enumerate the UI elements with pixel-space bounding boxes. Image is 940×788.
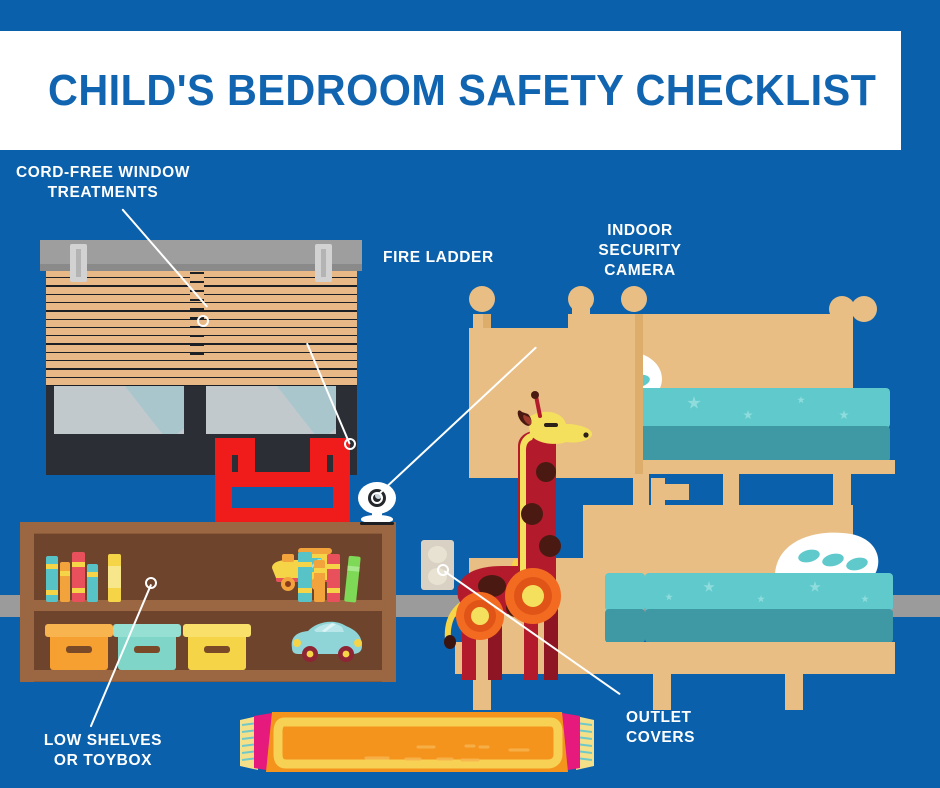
fire-escape-ladder: [215, 438, 350, 530]
book: [298, 552, 312, 602]
storage-bin-mint: [118, 624, 176, 670]
blind-slat-stack-line: [190, 272, 204, 275]
blind-slat: [46, 378, 357, 385]
giraffe-head: [528, 412, 592, 444]
leader-dot-cord-free: [197, 315, 209, 327]
giraffe-spot: [539, 535, 561, 557]
leader-dot-outlet: [437, 564, 449, 576]
giraffe-eye: [544, 423, 558, 427]
bookshelf-bottom-board: [33, 670, 383, 681]
book: [46, 556, 58, 602]
book: [72, 552, 85, 602]
car-headlight: [293, 639, 301, 647]
blind-valance-shadow: [40, 264, 362, 271]
blind-slat-stack-line: [190, 308, 204, 311]
low-bookshelf-with-toybox: [20, 522, 396, 682]
callout-label-outlet-covers: OUTLET COVERS: [626, 708, 756, 748]
giraffe-horn: [536, 396, 540, 416]
bed-finial: [469, 286, 495, 312]
bookshelf-side-right: [382, 522, 396, 682]
pillow-lower: [771, 532, 883, 576]
train-chimney: [282, 554, 294, 562]
blind-slat: [46, 370, 357, 377]
car-taillight: [354, 639, 362, 647]
callout-label-low-shelves-or-toybox: LOW SHELVES OR TOYBOX: [20, 731, 186, 771]
toy-train: [270, 546, 355, 598]
book: [60, 562, 70, 602]
blind-slat-stack-line: [190, 353, 204, 356]
blind-slat-stack-line: [190, 335, 204, 338]
blind-slat-stack-line: [190, 348, 204, 351]
valance-bracket-right: [315, 244, 332, 282]
bunk-ladder-step: [651, 484, 689, 500]
bed-finial: [851, 296, 877, 322]
book: [314, 560, 325, 602]
callout-label-fire-ladder: FIRE LADDER: [383, 248, 503, 268]
blind-slat-stack-line: [190, 330, 204, 333]
leader-dot-fire-ladder: [344, 438, 356, 450]
bed-finial: [621, 286, 647, 312]
blind-slat-stack-line: [190, 339, 204, 342]
book: [327, 554, 340, 602]
storage-bin-orange: [50, 624, 108, 670]
giraffe-pull-toy: [440, 390, 620, 680]
bed-post-shadow: [635, 314, 643, 474]
pull-string-handle: [444, 635, 456, 649]
bed-leg: [785, 674, 803, 710]
indoor-security-camera: [358, 482, 396, 526]
outlet-socket-top: [428, 546, 447, 563]
callout-label-cord-free-window-treatments: CORD-FREE WINDOW TREATMENTS: [8, 163, 198, 203]
ladder-rung: [215, 508, 350, 523]
callout-label-indoor-security-camera: INDOOR SECURITY CAMERA: [580, 221, 700, 281]
giraffe-wheel-hub: [471, 607, 489, 625]
storage-bin-yellow: [188, 624, 246, 670]
title-banner: CHILD'S BEDROOM SAFETY CHECKLIST: [0, 31, 901, 150]
blanket-lower: [645, 573, 893, 611]
giraffe-spot: [521, 503, 543, 525]
blind-slat-stack-line: [190, 344, 204, 347]
book: [87, 564, 98, 602]
area-rug: [222, 706, 612, 778]
ladder-rung: [215, 472, 350, 487]
giraffe-spot: [536, 462, 556, 482]
blind-slat-stack-line: [190, 281, 204, 284]
toy-car: [288, 614, 366, 662]
electrical-outlet-with-cover: [421, 540, 454, 590]
valance-bracket-left: [70, 244, 87, 282]
infographic-canvas: CHILD'S BEDROOM SAFETY CHECKLIST: [0, 0, 940, 788]
camera-shadow: [360, 522, 394, 525]
leader-dot-camera: [371, 492, 383, 504]
book: [108, 554, 121, 602]
train-front: [272, 560, 300, 578]
bookshelf-side-left: [20, 522, 34, 682]
page-title: CHILD'S BEDROOM SAFETY CHECKLIST: [48, 66, 876, 116]
blind-slat: [46, 361, 357, 368]
giraffe-horn-tip: [531, 391, 539, 399]
bed-leg: [653, 674, 671, 710]
giraffe-nostril: [583, 432, 588, 437]
bookshelf-top-board: [33, 522, 383, 533]
leader-dot-shelves: [145, 577, 157, 589]
giraffe-wheel-hub: [522, 585, 544, 607]
mattress-lower: [645, 609, 893, 643]
blind-slat-stack-line: [190, 276, 204, 279]
